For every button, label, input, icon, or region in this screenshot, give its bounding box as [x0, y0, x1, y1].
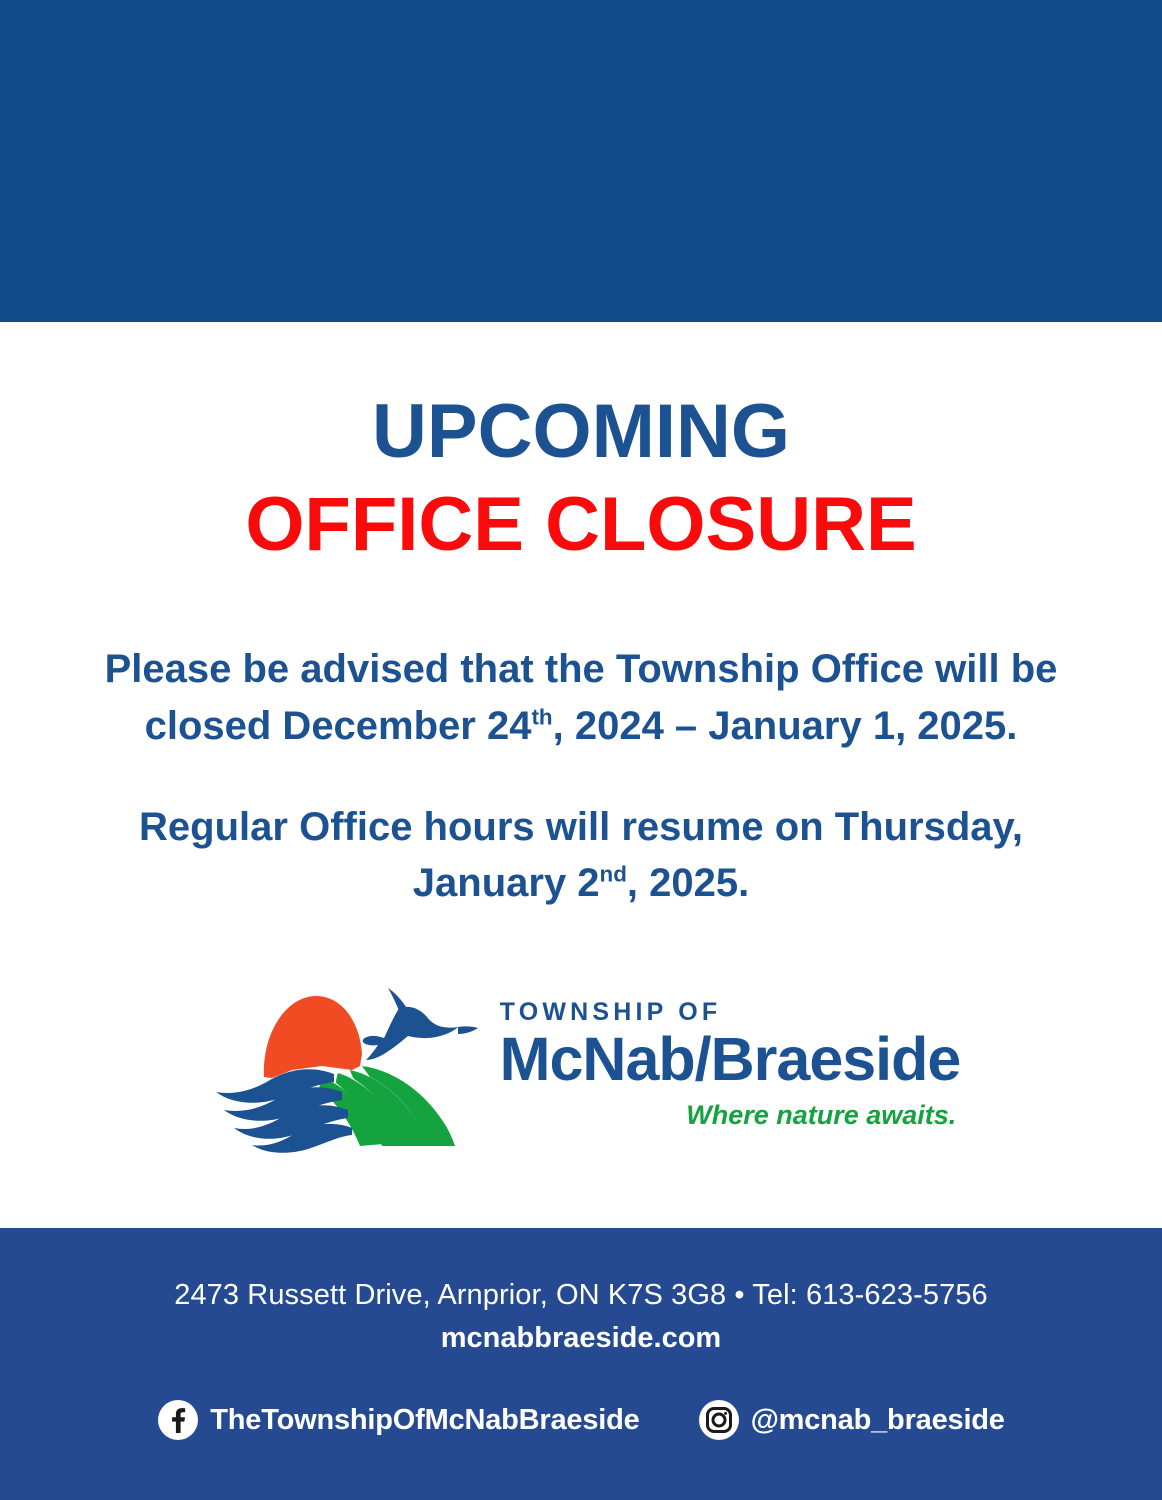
notice-paragraphs: Please be advised that the Township Offi…	[41, 641, 1121, 912]
office-closure-poster: UPCOMING OFFICE CLOSURE Please be advise…	[0, 0, 1162, 1500]
notice-paragraph-closure-dates: Please be advised that the Township Offi…	[41, 641, 1121, 755]
notice-paragraph-resume-date: Regular Office hours will resume on Thur…	[131, 799, 1031, 913]
logo-wordmark: TOWNSHIP OF McNab/Braeside Where nature …	[500, 1000, 961, 1129]
resume-text-pre: Regular Office hours will resume on Thur…	[139, 805, 1023, 906]
headline-office-closure: OFFICE CLOSURE	[0, 487, 1162, 563]
logo-tagline: Where nature awaits.	[686, 1102, 960, 1129]
sun-goose-waves-fields-logo-mark	[202, 974, 492, 1154]
resume-text-post: , 2025.	[627, 861, 749, 905]
township-logo: TOWNSHIP OF McNab/Braeside Where nature …	[201, 974, 961, 1154]
logo-eyebrow-township-of: TOWNSHIP OF	[500, 1000, 722, 1025]
closure-text-post: , 2024 – January 1, 2025.	[553, 704, 1018, 748]
facebook-link[interactable]: TheTownshipOfMcNabBraeside	[157, 1399, 639, 1441]
facebook-icon	[157, 1399, 199, 1441]
headline-block: UPCOMING OFFICE CLOSURE	[0, 394, 1162, 563]
closure-date-ordinal-suffix: th	[531, 704, 552, 729]
poster-body: UPCOMING OFFICE CLOSURE Please be advise…	[0, 322, 1162, 1228]
instagram-link[interactable]: @mcnab_braeside	[698, 1399, 1005, 1441]
facebook-handle: TheTownshipOfMcNabBraeside	[210, 1406, 639, 1435]
instagram-icon	[698, 1399, 740, 1441]
header-blue-band	[0, 0, 1162, 322]
logo-municipality-name: McNab/Braeside	[500, 1027, 961, 1093]
resume-date-ordinal-suffix: nd	[600, 862, 627, 887]
headline-upcoming: UPCOMING	[0, 394, 1162, 470]
footer-website-link[interactable]: mcnabbraeside.com	[441, 1318, 721, 1359]
footer-social-links: TheTownshipOfMcNabBraeside @mcnab_braesi…	[157, 1399, 1005, 1441]
footer-blue-band: 2473 Russett Drive, Arnprior, ON K7S 3G8…	[0, 1228, 1162, 1500]
footer-address-line: 2473 Russett Drive, Arnprior, ON K7S 3G8…	[174, 1275, 988, 1316]
instagram-handle: @mcnab_braeside	[751, 1406, 1005, 1435]
